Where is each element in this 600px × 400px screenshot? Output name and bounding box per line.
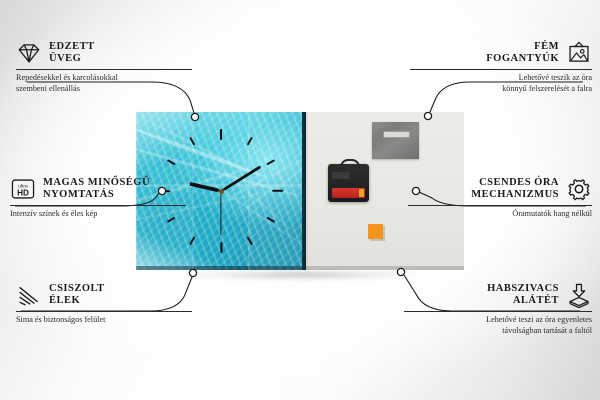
- feature-description: Lehetővé teszi az óra egyenletes távolsá…: [404, 315, 592, 336]
- feature-divider: [16, 311, 192, 312]
- hour-mark: [272, 190, 283, 192]
- feature-divider: [16, 69, 192, 70]
- feature-polished-edges[interactable]: CSISZOLT ÉLEK Sima és biztonságos felüle…: [16, 282, 192, 326]
- hour-mark: [247, 137, 253, 146]
- foam-spacer-pad: [368, 224, 383, 239]
- feature-silent-mechanism[interactable]: CSENDES ÓRA MECHANIZMUS Óramutatók hang …: [408, 176, 592, 220]
- diamond-icon: [16, 40, 42, 66]
- ultra-hd-icon: ultra HD: [10, 176, 36, 202]
- minute-hand: [220, 165, 261, 192]
- hour-mark: [220, 242, 222, 253]
- feature-tempered-glass[interactable]: EDZETT ÜVEG Repedésekkel és karcolásokka…: [16, 40, 192, 94]
- battery-terminal: [359, 189, 364, 197]
- feature-header: FÉM FOGANTYÚK: [410, 40, 592, 66]
- hour-mark: [266, 217, 275, 223]
- feature-description: Óramutatók hang nélkül: [408, 209, 592, 220]
- hour-hand: [189, 182, 221, 193]
- infographic-canvas: EDZETT ÜVEG Repedésekkel és karcolásokka…: [0, 0, 600, 400]
- feature-divider: [10, 205, 186, 206]
- feature-divider: [404, 311, 592, 312]
- feature-title: EDZETT ÜVEG: [49, 41, 95, 65]
- foam-pad-icon: [566, 282, 592, 308]
- svg-text:HD: HD: [17, 189, 29, 198]
- movement-slot: [332, 172, 350, 179]
- feature-header: ultra HD MAGAS MINŐSÉGŰ NYOMTATÁS: [10, 176, 186, 202]
- feature-title: FÉM FOGANTYÚK: [410, 41, 559, 65]
- second-hand: [220, 191, 221, 235]
- hour-mark: [247, 236, 253, 245]
- feature-description: Lehetővé teszik az óra könnyű felszerelé…: [410, 73, 592, 94]
- hour-mark: [266, 159, 275, 165]
- hour-mark: [220, 129, 222, 140]
- picture-hanger-icon: [566, 40, 592, 66]
- polished-edges-icon: [16, 282, 42, 308]
- hour-mark: [189, 236, 195, 245]
- feature-description: Sima és biztonságos felület: [16, 315, 192, 326]
- feature-header: CSENDES ÓRA MECHANIZMUS: [408, 176, 592, 202]
- gear-icon: [566, 176, 592, 202]
- feature-header: HABSZIVACS ALÁTÉT: [404, 282, 592, 308]
- feature-title: CSISZOLT ÉLEK: [49, 283, 105, 307]
- feature-header: EDZETT ÜVEG: [16, 40, 192, 66]
- feature-header: CSISZOLT ÉLEK: [16, 282, 192, 308]
- feature-metal-handles[interactable]: FÉM FOGANTYÚK Lehetővé teszik az óra kön…: [410, 40, 592, 94]
- hanger-slot: [383, 131, 410, 138]
- aa-battery: [332, 188, 365, 198]
- feature-high-quality-print[interactable]: ultra HD MAGAS MINŐSÉGŰ NYOMTATÁS Intenz…: [10, 176, 186, 220]
- feature-title: HABSZIVACS ALÁTÉT: [404, 283, 559, 307]
- feature-divider: [410, 69, 592, 70]
- quartz-movement-box: [328, 164, 369, 202]
- feature-description: Repedésekkel és karcolásokkal szembeni e…: [16, 73, 192, 94]
- feature-foam-pad[interactable]: HABSZIVACS ALÁTÉT Lehetővé teszi az óra …: [404, 282, 592, 336]
- movement-hook: [340, 159, 360, 169]
- hand-center-cap: [219, 189, 224, 194]
- hour-mark: [189, 137, 195, 146]
- feature-title: CSENDES ÓRA MECHANIZMUS: [408, 177, 559, 201]
- hour-mark: [167, 159, 176, 165]
- feature-divider: [408, 205, 592, 206]
- metal-hanger-plate: [372, 122, 419, 159]
- feature-title: MAGAS MINŐSÉGŰ NYOMTATÁS: [43, 177, 150, 201]
- feature-description: Intenzív színek és éles kép: [10, 209, 186, 220]
